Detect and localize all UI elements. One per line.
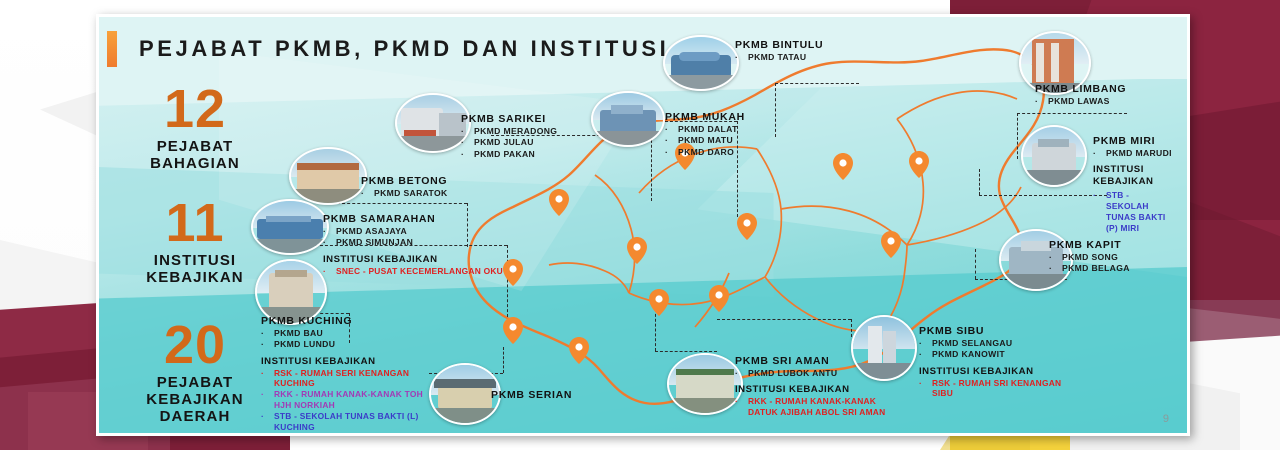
connector-kapit-v xyxy=(975,249,976,279)
stat-label-line2: KEBAJIKAN xyxy=(115,391,275,408)
stat-label: INSTITUSI KEBAJIKAN xyxy=(115,252,275,287)
institution-text: STB - SEKOLAH TUNAS BAKTI (L) KUCHING xyxy=(274,411,461,433)
label-kuching: PKMB KUCHING ·PKMD BAU ·PKMD LUNDU INSTI… xyxy=(261,315,461,436)
stat-number: 11 xyxy=(115,199,275,249)
office-sub: ·PKMD JULAU xyxy=(461,137,557,148)
slide-title-row: PEJABAT PKMB, PKMD DAN INSTITUSI xyxy=(107,31,669,67)
office-sub: ·PKMD MATU xyxy=(665,135,745,146)
office-sub: ·PKMD SELANGAU xyxy=(919,338,1079,349)
stat-block-institusi-kebajikan: 11 INSTITUSI KEBAJIKAN xyxy=(115,199,275,286)
office-sub: ·PKMD SIMUNJAN xyxy=(323,237,503,248)
institution-row: · RSK - RUMAH SRI KENANGAN SIBU xyxy=(919,378,1079,400)
map-pin-betong[interactable] xyxy=(503,259,523,286)
photo-sarikei xyxy=(395,93,471,153)
connector-sibu-h xyxy=(717,319,851,320)
office-sub: ·PKMD MARUDI xyxy=(1093,148,1189,159)
stat-label-line2: KEBAJIKAN xyxy=(115,269,275,286)
office-sub: ·PKMD KANOWIT xyxy=(919,349,1079,360)
photo-miri xyxy=(1021,125,1087,187)
stat-label: PEJABAT KEBAJIKAN DAERAH xyxy=(115,374,275,426)
office-sub: ·PKMD DALAT xyxy=(665,124,745,135)
connector-sibu-v xyxy=(851,319,852,337)
map-pin-samarahan[interactable] xyxy=(503,317,523,344)
connector-miri-h xyxy=(979,195,1107,196)
institution-text: RSK - RUMAH SERI KENANGAN KUCHING xyxy=(274,368,461,390)
office-sub: ·PKMD MERADONG xyxy=(461,126,557,137)
stat-label-line2: BAHAGIAN xyxy=(115,155,275,172)
office-sub: ·PKMD TATAU xyxy=(735,52,823,63)
map-pin-sarikei[interactable] xyxy=(549,189,569,216)
connector-miri-v xyxy=(979,169,980,195)
label-bintulu: PKMB BINTULU ·PKMD TATAU xyxy=(735,39,823,63)
office-title: PKMB KAPIT xyxy=(1049,239,1130,252)
label-sibu: PKMB SIBU ·PKMD SELANGAU ·PKMD KANOWIT I… xyxy=(919,325,1079,399)
office-title: PKMB SARIKEI xyxy=(461,113,557,126)
stat-label: PEJABAT BAHAGIAN xyxy=(115,138,275,173)
institution-heading: INSTITUSI KEBAJIKAN xyxy=(735,384,915,396)
institution-heading-2: KEBAJIKAN xyxy=(1093,176,1189,188)
title-accent-bar xyxy=(107,31,117,67)
slide-card: PEJABAT PKMB, PKMD DAN INSTITUSI 12 PEJA… xyxy=(96,14,1190,436)
connector-serian-v xyxy=(503,347,504,373)
stat-block-pejabat-bahagian: 12 PEJABAT BAHAGIAN xyxy=(115,85,275,172)
stat-label-line1: INSTITUSI xyxy=(115,252,275,269)
office-title: PKMB MUKAH xyxy=(665,111,745,124)
stat-number: 20 xyxy=(115,321,275,371)
institution-heading: INSTITUSI KEBAJIKAN xyxy=(919,366,1079,378)
institution-text: SNEC - PUSAT KECEMERLANGAN OKU xyxy=(336,266,503,277)
map-pin-serian[interactable] xyxy=(569,337,589,364)
institution-heading: INSTITUSI KEBAJIKAN xyxy=(323,254,503,266)
connector-limbang-h xyxy=(1017,113,1127,114)
stat-label-line3: DAERAH xyxy=(115,408,275,425)
institution-row: · RKK - RUMAH KANAK-KANAK TOH HJH NORKIA… xyxy=(261,389,461,411)
office-sub: ·PKMD BELAGA xyxy=(1049,263,1130,274)
office-title: PKMB KUCHING xyxy=(261,315,461,328)
office-title: PKMB BINTULU xyxy=(735,39,823,52)
institution-heading: INSTITUSI KEBAJIKAN xyxy=(261,356,461,368)
label-mukah: PKMB MUKAH ·PKMD DALAT ·PKMD MATU ·PKMD … xyxy=(665,111,745,158)
institution-text: RKK - RUMAH KANAK-KANAK TOH HJH NORKIAH xyxy=(274,389,461,411)
office-sub: ·PKMD LAWAS xyxy=(1035,96,1126,107)
label-serian: PKMB SERIAN xyxy=(491,389,572,402)
label-samarahan: PKMB SAMARAHAN ·PKMD ASAJAYA ·PKMD SIMUN… xyxy=(323,213,503,276)
connector-bintulu-v xyxy=(775,83,776,137)
office-sub: ·PKMD LUNDU xyxy=(261,339,461,350)
stat-block-pejabat-kebajikan-daerah: 20 PEJABAT KEBAJIKAN DAERAH xyxy=(115,321,275,426)
slide-stage: PEJABAT PKMB, PKMD DAN INSTITUSI 12 PEJA… xyxy=(0,0,1280,450)
institution-heading: INSTITUSI xyxy=(1093,164,1189,176)
office-sub: ·PKMD DARO xyxy=(665,147,745,158)
office-sub: ·PKMD ASAJAYA xyxy=(323,226,503,237)
map-pin-miri[interactable] xyxy=(833,153,853,180)
stat-label-line1: PEJABAT xyxy=(115,374,275,391)
label-kapit: PKMB KAPIT ·PKMD SONG ·PKMD BELAGA xyxy=(1049,239,1130,275)
office-sub: ·PKMD PAKAN xyxy=(461,149,557,160)
institution-text: RSK - RUMAH SRI KENANGAN SIBU xyxy=(932,378,1079,400)
stat-label-line1: PEJABAT xyxy=(115,138,275,155)
photo-sri-aman xyxy=(667,353,743,415)
map-pin-limbang[interactable] xyxy=(909,151,929,178)
photo-betong xyxy=(289,147,367,205)
label-miri: PKMB MIRI ·PKMD MARUDI INSTITUSI KEBAJIK… xyxy=(1093,135,1189,234)
photo-bintulu xyxy=(663,35,739,91)
connector-sri-aman-h xyxy=(655,351,717,352)
map-pin-kapit-east[interactable] xyxy=(881,231,901,258)
stat-number: 12 xyxy=(115,85,275,135)
office-title: PKMB LIMBANG xyxy=(1035,83,1126,96)
institution-row: · TSP - TAMAN SERI PUTERI xyxy=(261,433,461,436)
institution-row: · RSK - RUMAH SERI KENANGAN KUCHING xyxy=(261,368,461,390)
office-title: PKMB BETONG xyxy=(361,175,448,188)
photo-mukah xyxy=(591,91,665,147)
institution-text: TSP - TAMAN SERI PUTERI xyxy=(274,433,461,436)
connector-bintulu-h xyxy=(775,83,859,84)
map-pin-sibu[interactable] xyxy=(709,285,729,312)
bullet: · xyxy=(323,266,336,277)
connector-samarahan-h xyxy=(337,203,467,204)
bullet: · xyxy=(919,378,932,389)
institution-text: STB - SEKOLAH TUNAS BAKTI (P) MIRI xyxy=(1106,190,1189,234)
page-number: 9 xyxy=(1163,413,1169,425)
page-title: PEJABAT PKMB, PKMD DAN INSTITUSI xyxy=(139,36,669,62)
label-betong: PKMB BETONG ·PKMD SARATOK xyxy=(361,175,448,199)
map-pin-sri-aman[interactable] xyxy=(649,289,669,316)
map-pin-mukah[interactable] xyxy=(627,237,647,264)
office-title: PKMB MIRI xyxy=(1093,135,1189,148)
label-sarikei: PKMB SARIKEI ·PKMD MERADONG ·PKMD JULAU … xyxy=(461,113,557,160)
office-sub: ·PKMD SARATOK xyxy=(361,188,448,199)
bullet: · xyxy=(1093,190,1106,201)
map-pin-kapit[interactable] xyxy=(737,213,757,240)
institution-text: RKK - RUMAH KANAK-KANAK DATUK AJIBAH ABO… xyxy=(748,396,915,418)
bullet: · xyxy=(261,433,274,436)
office-title: PKMB SIBU xyxy=(919,325,1079,338)
institution-row: · STB - SEKOLAH TUNAS BAKTI (L) KUCHING xyxy=(261,411,461,433)
institution-row: · SNEC - PUSAT KECEMERLANGAN OKU xyxy=(323,266,503,277)
label-limbang: PKMB LIMBANG ·PKMD LAWAS xyxy=(1035,83,1126,107)
connector-limbang-v xyxy=(1017,113,1018,159)
office-title: PKMB SAMARAHAN xyxy=(323,213,503,226)
institution-row: · STB - SEKOLAH TUNAS BAKTI (P) MIRI xyxy=(1093,190,1189,234)
bullet: · xyxy=(735,396,748,407)
office-sub: ·PKMD SONG xyxy=(1049,252,1130,263)
office-title: PKMB SERIAN xyxy=(491,389,572,402)
office-title: PKMB SRI AMAN xyxy=(735,355,915,368)
label-sri-aman: PKMB SRI AMAN ·PKMD LUBOK ANTU INSTITUSI… xyxy=(735,355,915,418)
office-sub: ·PKMD BAU xyxy=(261,328,461,339)
institution-row: · RKK - RUMAH KANAK-KANAK DATUK AJIBAH A… xyxy=(735,396,915,418)
office-sub: ·PKMD LUBOK ANTU xyxy=(735,368,915,379)
